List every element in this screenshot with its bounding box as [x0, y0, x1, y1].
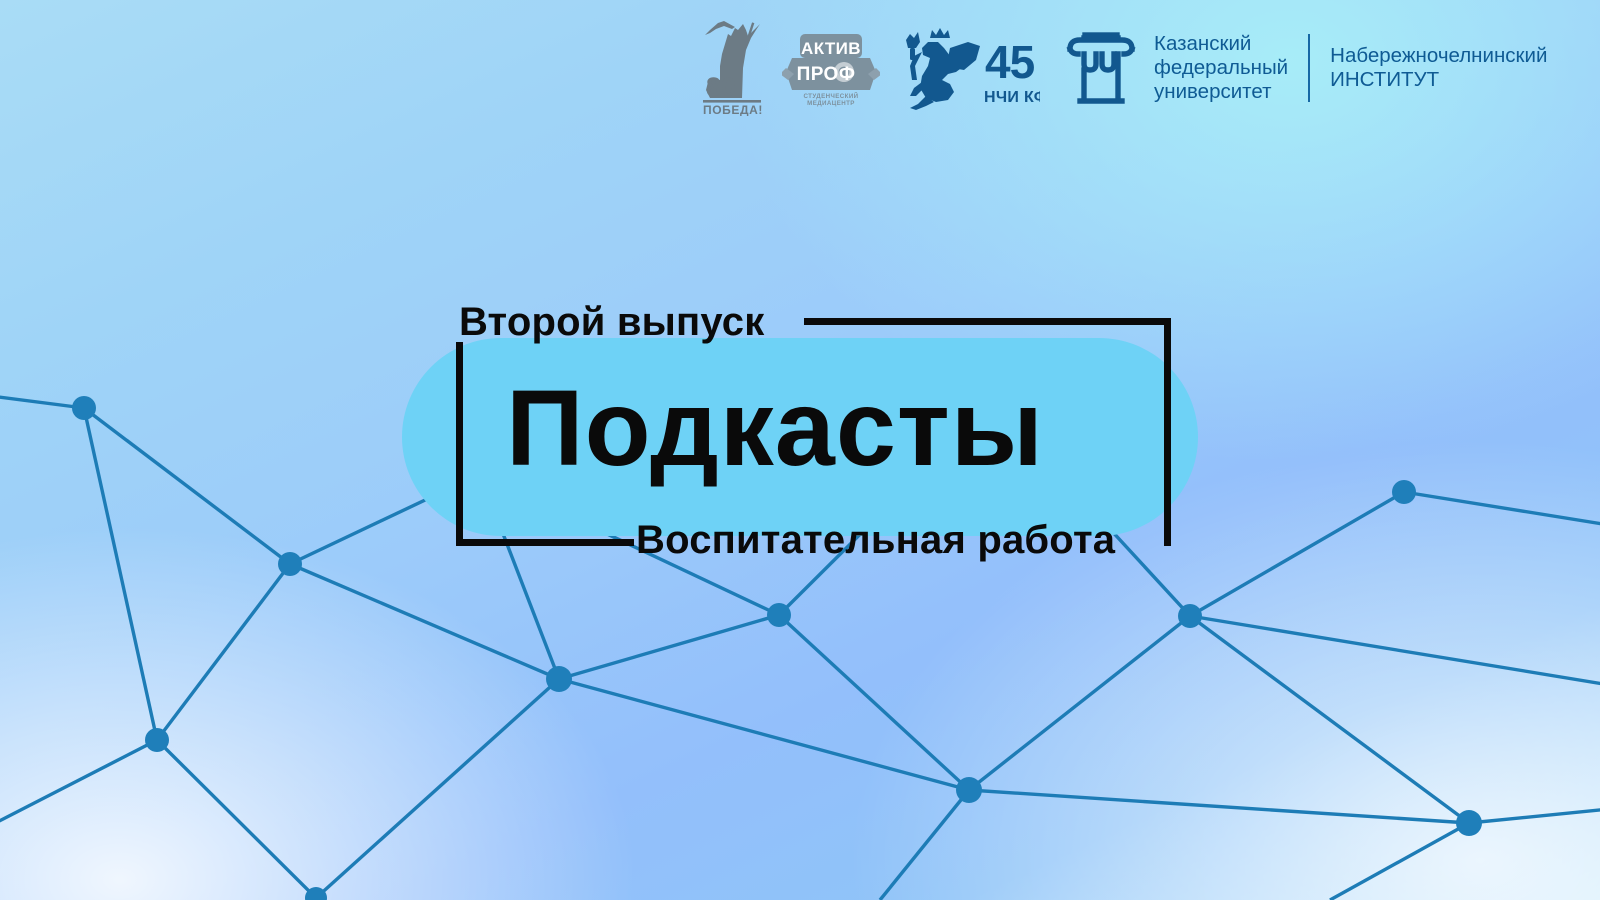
network-node — [1178, 604, 1202, 628]
aktivprof-tagline1: СТУДЕНЧЕСКИЙ — [803, 92, 858, 100]
network-edge — [559, 679, 969, 790]
network-node — [278, 552, 302, 576]
kfu-left-name: Казанский федеральный университет — [1154, 32, 1288, 103]
motherland-statue-icon: 80 ПОБЕДА! — [694, 20, 772, 116]
nchi-number: 45 — [985, 36, 1035, 88]
network-edge — [880, 790, 969, 900]
frame-line-bottom — [456, 539, 634, 546]
network-edge — [0, 740, 157, 836]
logo-pobeda-80: 80 ПОБЕДА! — [694, 20, 772, 116]
kfu-right-line-2: ИНСТИТУТ — [1330, 68, 1547, 92]
kfu-left-line-1: Казанский — [1154, 32, 1288, 56]
network-edge — [559, 615, 779, 679]
page-title: Подкасты — [506, 374, 1044, 482]
network-edge — [969, 790, 1469, 823]
kfu-column-icon — [1062, 29, 1140, 107]
network-edge — [316, 679, 559, 898]
kfu-left-line-2: федеральный — [1154, 56, 1288, 80]
network-edge — [1469, 806, 1600, 823]
network-edge — [1190, 616, 1469, 823]
frame-line-left — [456, 342, 463, 546]
network-node — [546, 666, 572, 692]
logo-kfu-lockup: Казанский федеральный университет Набере… — [1062, 29, 1547, 107]
episode-label: Второй выпуск — [459, 300, 764, 345]
network-edge — [157, 564, 290, 740]
network-edge — [1190, 616, 1600, 690]
logo-aktiv-prof: АКТИВ ПРОФ СТУДЕНЧЕСКИЙ МЕДИАЦЕНТР — [782, 28, 880, 108]
zilant-dragon-icon: 45 НЧИ КФУ — [892, 22, 1040, 114]
frame-line-right — [1164, 318, 1171, 546]
network-edge — [1404, 492, 1600, 530]
kfu-wordmark: Казанский федеральный университет Набере… — [1154, 32, 1547, 103]
kfu-vertical-divider — [1308, 34, 1310, 102]
pobeda-caption: ПОБЕДА! — [703, 103, 763, 116]
logo-nchi-kfu-45: 45 НЧИ КФУ — [892, 22, 1040, 114]
network-edge — [84, 408, 157, 740]
nchi-caption: НЧИ КФУ — [984, 89, 1040, 106]
aktivprof-tagline2: МЕДИАЦЕНТР — [807, 100, 855, 107]
frame-line-top — [804, 318, 1171, 325]
network-node — [305, 887, 327, 900]
aktivprof-line1: АКТИВ — [801, 39, 861, 58]
network-edge — [290, 564, 559, 679]
network-node — [956, 777, 982, 803]
network-node — [145, 728, 169, 752]
network-node — [767, 603, 791, 627]
kfu-right-line-1: Набережночелнинский — [1330, 44, 1547, 68]
network-node — [1456, 810, 1482, 836]
aktiv-prof-badge-icon: АКТИВ ПРОФ СТУДЕНЧЕСКИЙ МЕДИАЦЕНТР — [782, 28, 880, 108]
kfu-left-line-3: университет — [1154, 80, 1288, 104]
network-edge — [969, 616, 1190, 790]
header-logo-strip: 80 ПОБЕДА! АКТИВ ПРОФ СТУДЕНЧЕСКИЙ МЕДИА… — [694, 18, 1547, 118]
network-edge — [1330, 823, 1469, 900]
category-label: Воспитательная работа — [636, 518, 1115, 563]
network-edge — [779, 615, 969, 790]
network-node — [72, 396, 96, 420]
network-edge — [84, 408, 290, 564]
network-edge — [1190, 492, 1404, 616]
network-edge — [0, 392, 84, 408]
network-node — [1392, 480, 1416, 504]
kfu-right-name: Набережночелнинский ИНСТИТУТ — [1330, 44, 1547, 92]
aktivprof-line2: ПРОФ — [797, 64, 856, 85]
network-edge — [157, 740, 316, 898]
slide-canvas: 80 ПОБЕДА! АКТИВ ПРОФ СТУДЕНЧЕСКИЙ МЕДИА… — [0, 0, 1600, 900]
pobeda-number: 80 — [706, 72, 736, 102]
